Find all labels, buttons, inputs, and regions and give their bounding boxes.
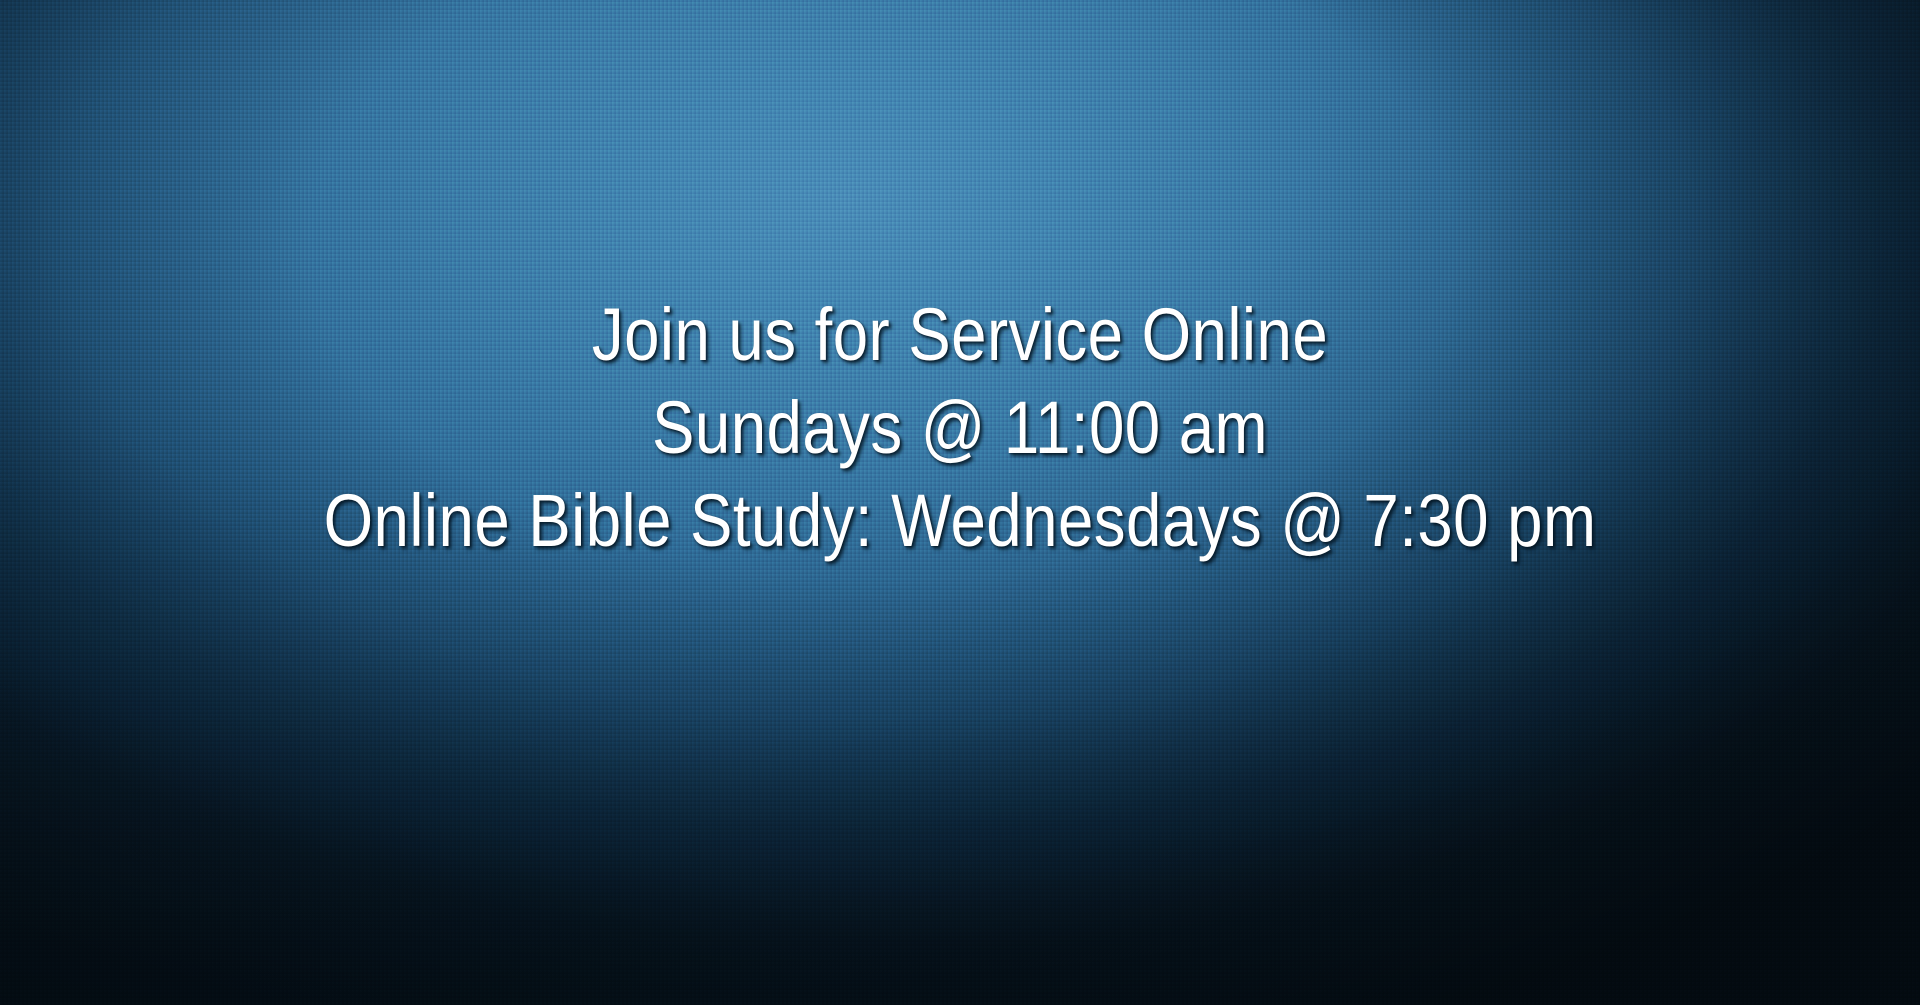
- announcement-text-block: Join us for Service Online Sundays @ 11:…: [0, 288, 1920, 567]
- slide-line-sunday-time: Sundays @ 11:00 am: [134, 381, 1785, 474]
- slide-content: Join us for Service Online Sundays @ 11:…: [0, 0, 1920, 1005]
- slide-line-bible-study-time: Online Bible Study: Wednesdays @ 7:30 pm: [134, 474, 1785, 567]
- presentation-slide: Join us for Service Online Sundays @ 11:…: [0, 0, 1920, 1005]
- slide-line-service-online: Join us for Service Online: [134, 288, 1785, 381]
